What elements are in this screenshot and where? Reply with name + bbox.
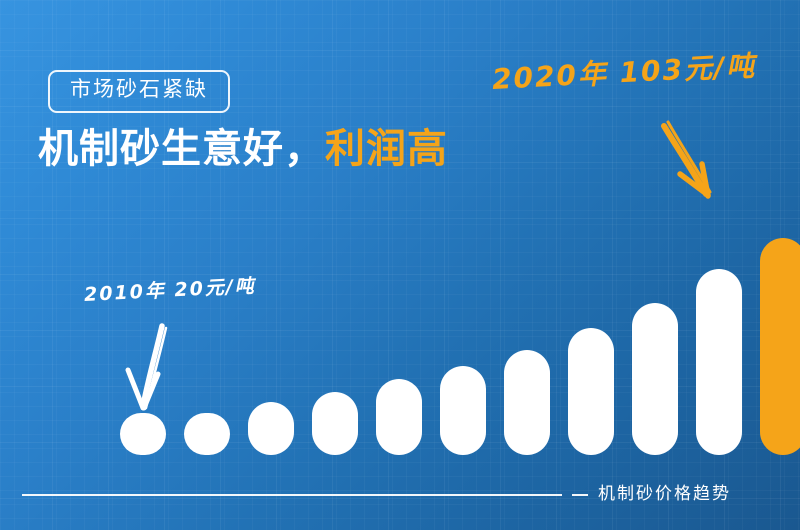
bar-2013 bbox=[312, 392, 358, 455]
axis-line-dash bbox=[572, 494, 588, 496]
annotation-2020-price: 2020年 103元/吨 bbox=[491, 44, 757, 98]
bar-2016 bbox=[504, 350, 550, 455]
headline-white-part: 机制砂生意好， bbox=[38, 127, 325, 171]
annotation-2010-price: 2010年 20元/吨 bbox=[83, 271, 256, 307]
bar-2015 bbox=[440, 366, 486, 455]
poster-canvas: 市场砂石紧缺 机制砂生意好，利润高 2020年 103元/吨 2010年 20元… bbox=[0, 0, 800, 530]
bar-2012 bbox=[248, 402, 294, 455]
badge-market-shortage: 市场砂石紧缺 bbox=[48, 70, 230, 113]
page-title: 机制砂生意好，利润高 bbox=[38, 124, 448, 174]
down-right-arrow-icon bbox=[640, 98, 740, 218]
bar-2019 bbox=[696, 269, 742, 455]
down-arrow-icon bbox=[112, 318, 192, 428]
axis-line bbox=[22, 494, 562, 496]
bar-2014 bbox=[376, 379, 422, 455]
chart-caption: 机制砂价格趋势 bbox=[598, 479, 731, 504]
headline-orange-part: 利润高 bbox=[325, 127, 448, 171]
bar-2020 bbox=[760, 238, 800, 455]
bar-2018 bbox=[632, 303, 678, 455]
bar-2017 bbox=[568, 328, 614, 455]
